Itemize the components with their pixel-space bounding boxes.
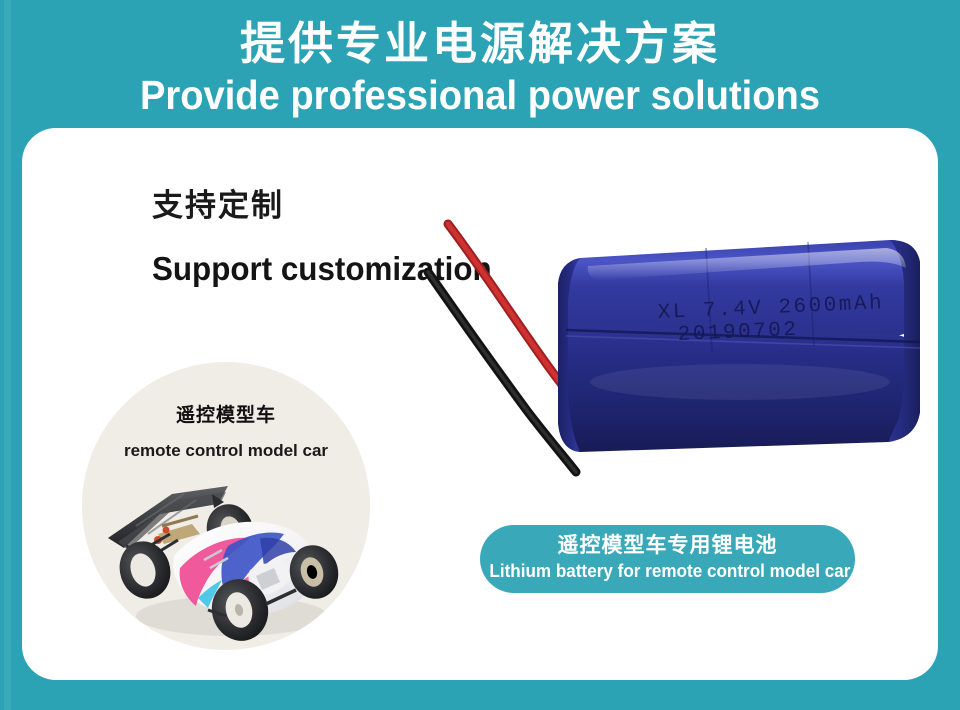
callout-label-en: remote control model car bbox=[82, 440, 370, 462]
rc-car-callout: 遥控模型车 remote control model car bbox=[82, 362, 370, 650]
header-title-cn: 提供专业电源解决方案 bbox=[0, 0, 960, 70]
badge-label-en: Lithium battery for remote control model… bbox=[489, 559, 845, 583]
promo-banner: 提供专业电源解决方案 Provide professional power so… bbox=[0, 0, 960, 710]
content-card: 支持定制 Support customization bbox=[22, 128, 938, 680]
battery-image: XL 7.4V 2600mAh 20190702 bbox=[420, 206, 930, 536]
header: 提供专业电源解决方案 Provide professional power so… bbox=[0, 0, 960, 128]
callout-label-cn: 遥控模型车 bbox=[82, 404, 370, 428]
product-badge: 遥控模型车专用锂电池 Lithium battery for remote co… bbox=[480, 525, 855, 593]
badge-label-cn: 遥控模型车专用锂电池 bbox=[480, 525, 855, 559]
rc-car-image bbox=[100, 464, 358, 644]
header-title-en: Provide professional power solutions bbox=[34, 70, 927, 118]
